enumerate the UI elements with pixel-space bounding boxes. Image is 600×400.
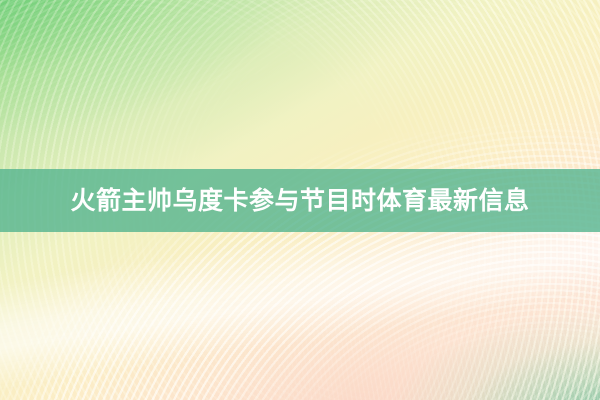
title-band: 火箭主帅乌度卡参与节目时体育最新信息 <box>0 169 600 232</box>
image-banner: 火箭主帅乌度卡参与节目时体育最新信息 <box>0 0 600 400</box>
banner-title: 火箭主帅乌度卡参与节目时体育最新信息 <box>70 188 529 213</box>
